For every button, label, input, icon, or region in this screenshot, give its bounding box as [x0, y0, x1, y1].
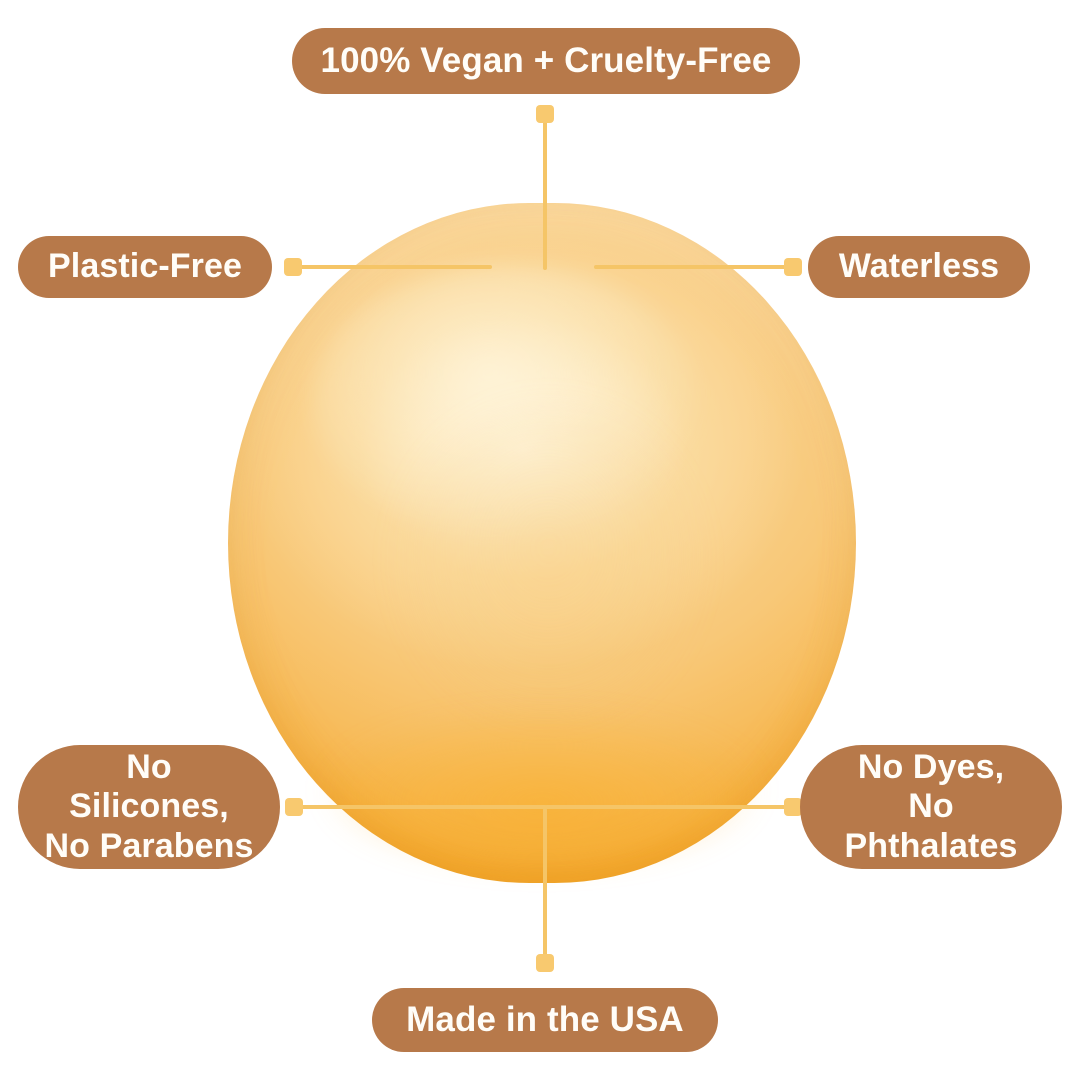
connector-line-bottom-right — [545, 805, 793, 809]
callout-badge-made-in-usa: Made in the USA — [372, 988, 718, 1052]
connector-line-top — [543, 118, 547, 270]
callout-badge-waterless: Waterless — [808, 236, 1030, 298]
connector-line-bottom-left — [301, 805, 547, 809]
connector-dot-left — [284, 258, 302, 276]
product-image — [228, 203, 856, 883]
connector-line-left — [300, 265, 492, 269]
connector-dot-right — [784, 258, 802, 276]
connector-dot-top — [536, 105, 554, 123]
connector-line-bottom — [543, 808, 547, 963]
callout-badge-plastic-free: Plastic-Free — [18, 236, 272, 298]
callout-badge-no-silicones-no-parabens: No Silicones, No Parabens — [18, 745, 280, 869]
callout-badge-vegan: 100% Vegan + Cruelty-Free — [292, 28, 800, 94]
connector-line-right — [594, 265, 792, 269]
infographic-canvas: 100% Vegan + Cruelty-Free Plastic-Free W… — [0, 0, 1080, 1080]
connector-dot-bottom — [536, 954, 554, 972]
callout-badge-no-dyes-no-phthalates: No Dyes, No Phthalates — [800, 745, 1062, 869]
shampoo-bar-shape — [228, 203, 856, 883]
connector-dot-bottom-left — [285, 798, 303, 816]
